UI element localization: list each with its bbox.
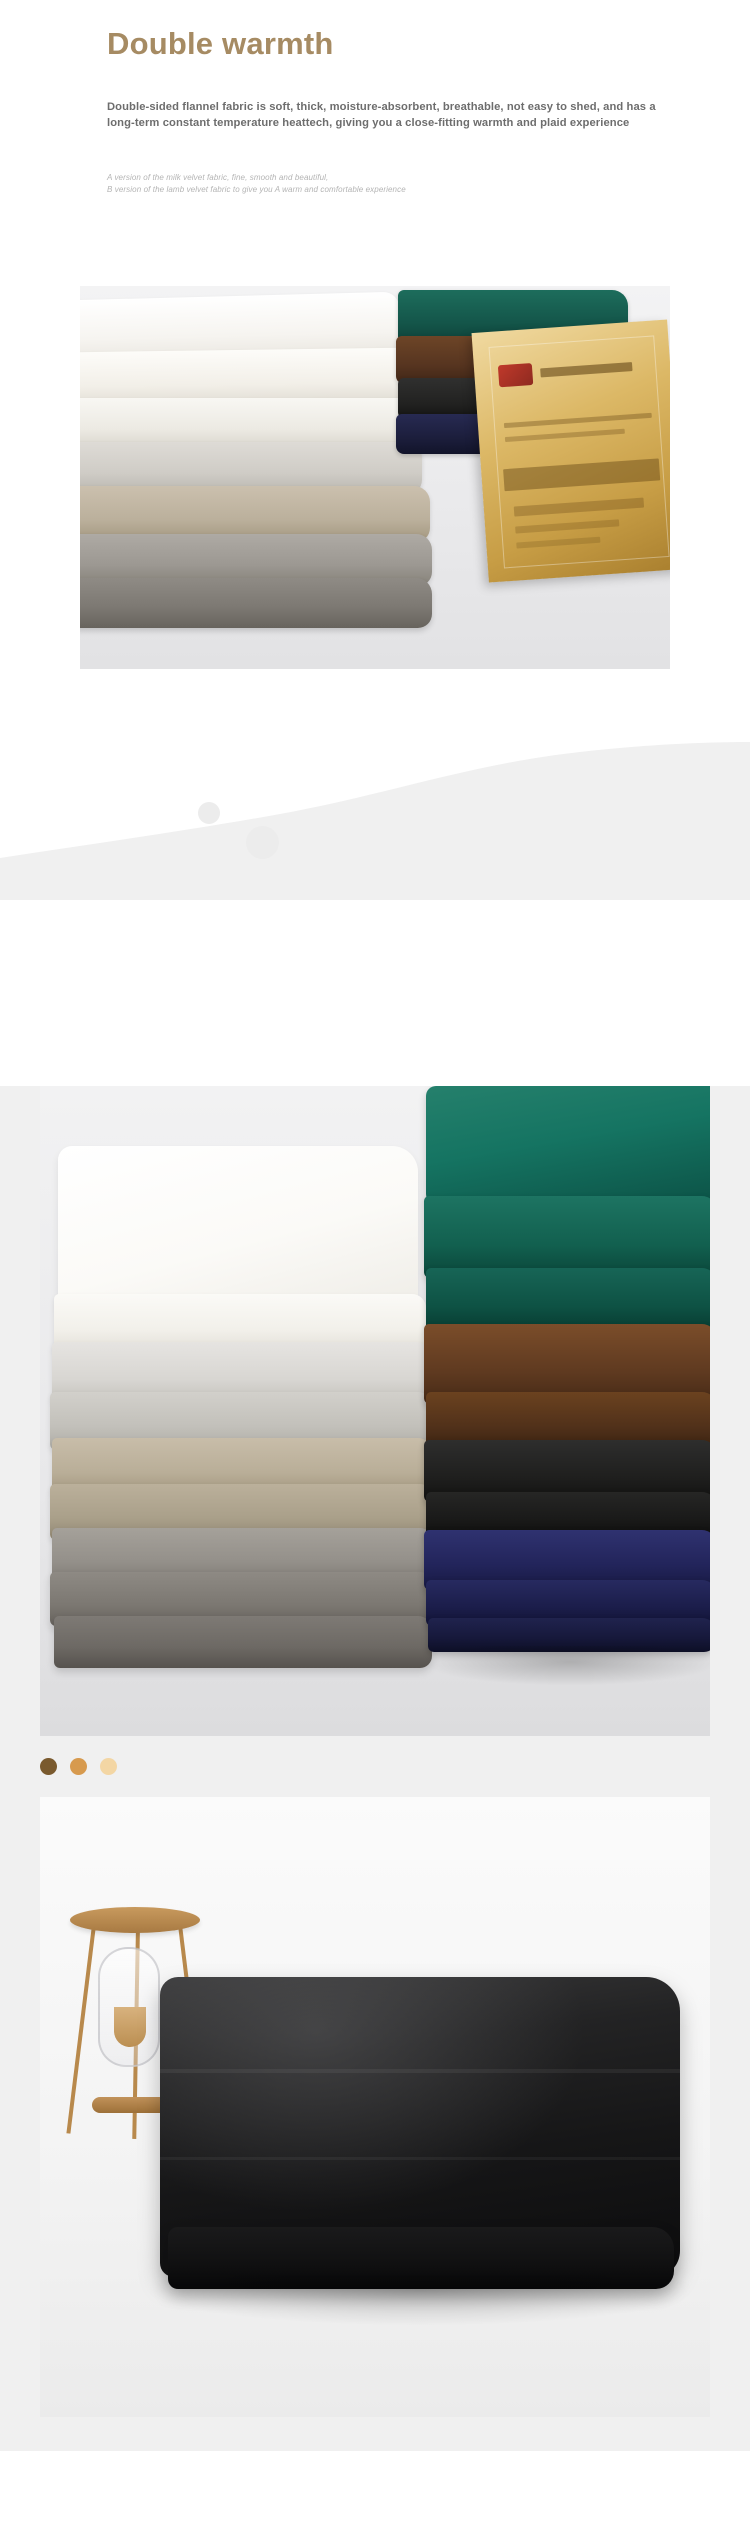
hero-subtext: A version of the milk velvet fabric, fin… bbox=[107, 172, 537, 196]
sign-text-line bbox=[504, 413, 652, 428]
wooden-side-table bbox=[70, 1907, 200, 1933]
sign-text-line bbox=[516, 537, 600, 549]
decorative-dot-small bbox=[198, 802, 220, 824]
photo-drop-shadow bbox=[420, 1646, 710, 1686]
swatch-brown[interactable] bbox=[40, 1758, 57, 1775]
curved-divider bbox=[0, 740, 750, 900]
blanket-fold-white bbox=[58, 1146, 418, 1316]
hero-description: Double-sided flannel fabric is soft, thi… bbox=[107, 100, 672, 131]
hero-section: Double warmth Double-sided flannel fabri… bbox=[0, 0, 750, 740]
color-swatch-row[interactable] bbox=[40, 1758, 750, 1775]
decorative-dot-large bbox=[246, 826, 279, 859]
sign-logo-icon bbox=[498, 363, 533, 387]
blanket-fold-charcoal bbox=[54, 1616, 432, 1668]
divider-wave-shape bbox=[0, 740, 750, 900]
photo-drop-shadow bbox=[150, 2275, 690, 2325]
black-blanket-photo bbox=[40, 1797, 710, 2417]
sign-text-line bbox=[514, 498, 644, 517]
factory-sign-board bbox=[472, 319, 670, 582]
showcase-product-photo bbox=[40, 1086, 710, 1736]
sign-text-line bbox=[505, 429, 625, 442]
sign-text-line bbox=[540, 362, 632, 377]
goods-information-section: Goods information Product showcase // Co… bbox=[0, 1086, 750, 2451]
hourglass-decor-icon bbox=[98, 1947, 160, 2067]
hero-product-photo bbox=[80, 286, 670, 669]
swatch-amber[interactable] bbox=[70, 1758, 87, 1775]
blanket-fold-green bbox=[424, 1196, 710, 1278]
hero-subtext-line-b: B version of the lamb velvet fabric to g… bbox=[107, 184, 537, 196]
blanket-fold-green bbox=[426, 1268, 710, 1332]
sign-text-line bbox=[515, 519, 619, 533]
hero-subtext-line-a: A version of the milk velvet fabric, fin… bbox=[107, 172, 537, 184]
swatch-cream[interactable] bbox=[100, 1758, 117, 1775]
blanket-fold-green bbox=[426, 1086, 710, 1206]
page-title: Double warmth bbox=[107, 26, 334, 62]
sign-text-line bbox=[503, 458, 660, 491]
product-detail-page: Double warmth Double-sided flannel fabri… bbox=[0, 0, 750, 2534]
blanket-fold-darkgray bbox=[80, 578, 432, 628]
table-base bbox=[92, 2097, 168, 2113]
